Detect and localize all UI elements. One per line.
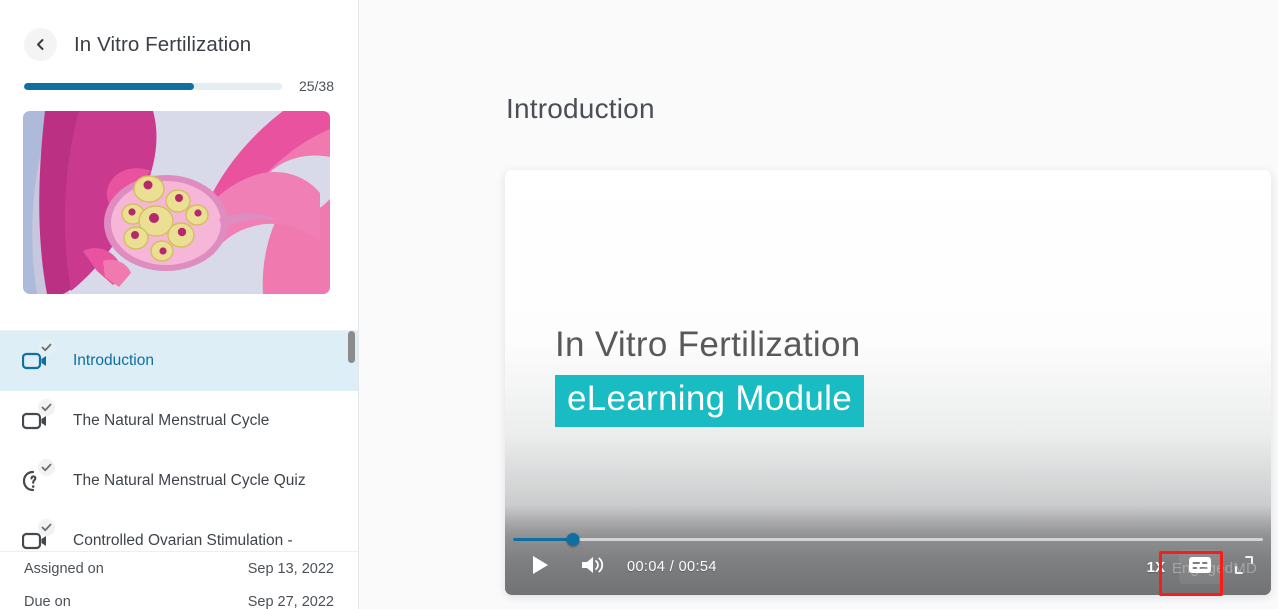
seek-knob[interactable] (567, 533, 580, 546)
player-controls: 00:04 / 00:54 1X (505, 505, 1271, 595)
volume-on-icon (580, 554, 605, 581)
time-display: 00:04 / 00:54 (627, 559, 717, 575)
lesson-item-0[interactable]: Introduction (0, 331, 358, 391)
app-root: In Vitro Fertilization 25/38 (0, 0, 1278, 609)
slide-text: In Vitro Fertilization eLearning Module (555, 325, 864, 427)
lesson-item-3[interactable]: Controlled Ovarian Stimulation - (0, 511, 358, 551)
slide-subtitle-wrap: eLearning Module (555, 375, 864, 427)
lesson-item-1[interactable]: The Natural Menstrual Cycle (0, 391, 358, 451)
play-button[interactable] (527, 554, 553, 580)
closed-captions-icon (1188, 556, 1212, 579)
due-on-value: Sep 27, 2022 (248, 594, 334, 609)
playback-speed-button[interactable]: 1X (1147, 559, 1165, 576)
lesson-item-label: Introduction (73, 352, 154, 370)
assigned-on-label: Assigned on (24, 561, 104, 577)
progress-label: 25/38 (299, 78, 334, 94)
lesson-item-label: Controlled Ovarian Stimulation - (73, 532, 293, 550)
lesson-list[interactable]: IntroductionThe Natural Menstrual CycleT… (0, 330, 358, 551)
fullscreen-icon (1234, 555, 1254, 580)
ovary-follicles-illustration (23, 111, 330, 294)
quiz-question-icon (22, 466, 56, 496)
course-thumbnail-wrap (0, 94, 358, 294)
fullscreen-button[interactable] (1233, 556, 1255, 578)
closed-captions-button[interactable] (1179, 550, 1221, 584)
video-camera-icon (22, 526, 56, 551)
page-title: Introduction (506, 93, 655, 125)
slide-subtitle: eLearning Module (555, 375, 864, 427)
due-on-label: Due on (24, 594, 71, 609)
video-camera-icon (22, 406, 56, 436)
control-row: 00:04 / 00:54 1X (505, 549, 1271, 585)
completed-check-icon (38, 399, 55, 416)
lesson-list-scrollbar[interactable] (348, 331, 355, 559)
chevron-left-icon (33, 37, 48, 52)
play-icon (530, 554, 550, 581)
assigned-on-value: Sep 13, 2022 (248, 561, 334, 577)
due-on-row: Due on Sep 27, 2022 (24, 585, 334, 609)
course-sidebar: In Vitro Fertilization 25/38 (0, 0, 359, 609)
video-player[interactable]: In Vitro Fertilization eLearning Module (505, 170, 1271, 595)
seek-bar[interactable] (513, 532, 1263, 546)
progress-track (24, 83, 282, 90)
slide-title: In Vitro Fertilization (555, 325, 864, 365)
lesson-item-2[interactable]: The Natural Menstrual Cycle Quiz (0, 451, 358, 511)
seek-fill (513, 538, 573, 541)
lesson-item-label: The Natural Menstrual Cycle Quiz (73, 472, 306, 490)
video-stage[interactable]: In Vitro Fertilization eLearning Module (505, 170, 1271, 595)
main-content: Introduction In Vitro Fertilization eLea… (359, 0, 1278, 609)
volume-button[interactable] (579, 554, 605, 580)
course-progress: 25/38 (0, 66, 358, 94)
scrollbar-thumb[interactable] (348, 331, 355, 363)
sidebar-header: In Vitro Fertilization (0, 0, 358, 66)
completed-check-icon (38, 459, 55, 476)
course-title: In Vitro Fertilization (74, 33, 251, 57)
progress-fill (24, 83, 194, 90)
completed-check-icon (38, 339, 55, 356)
lesson-item-label: The Natural Menstrual Cycle (73, 412, 269, 430)
back-button[interactable] (24, 28, 57, 61)
course-thumbnail (23, 111, 330, 294)
completed-check-icon (38, 519, 55, 536)
seek-track[interactable] (513, 538, 1263, 541)
assigned-on-row: Assigned on Sep 13, 2022 (24, 552, 334, 585)
sidebar-footer: Assigned on Sep 13, 2022 Due on Sep 27, … (0, 551, 358, 609)
video-camera-icon (22, 346, 56, 376)
